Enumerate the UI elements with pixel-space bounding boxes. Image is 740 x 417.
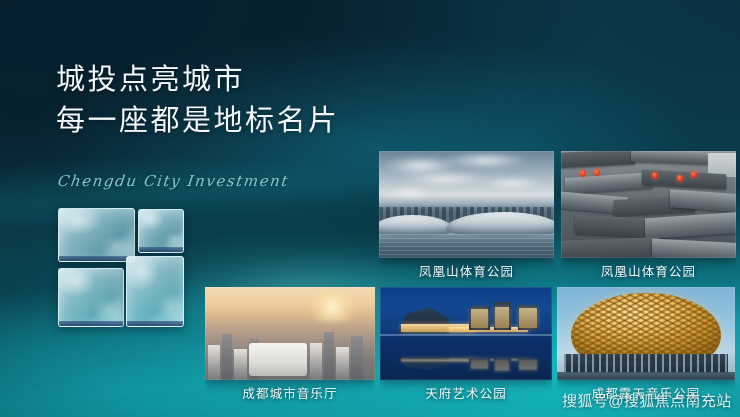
watermark-text: 搜狐号@搜狐焦点南充站	[562, 390, 732, 411]
presentation-slide: 城投点亮城市 每一座都是地标名片 Chengdu City Investment…	[0, 0, 740, 417]
background-vignette	[0, 0, 740, 417]
